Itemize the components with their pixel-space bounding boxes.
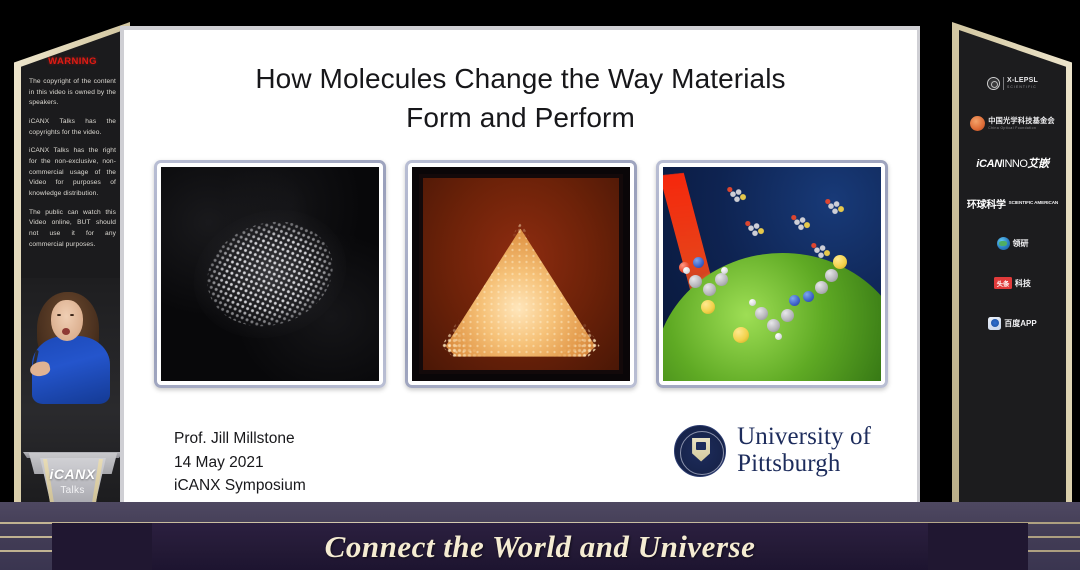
carbon-atom-3 xyxy=(715,273,728,286)
carbon-atom-7 xyxy=(815,281,828,294)
event-banner: Connect the World and Universe xyxy=(152,523,928,570)
slide-title-line-1: How Molecules Change the Way Materials xyxy=(255,63,785,94)
tem-micrograph xyxy=(161,167,379,381)
event-banner-text: Connect the World and Universe xyxy=(325,529,756,565)
speaker-name: Prof. Jill Millstone xyxy=(174,427,306,451)
sulfur-atom-1 xyxy=(701,300,715,314)
warning-paragraph-4: The public can watch this Video online, … xyxy=(29,208,116,251)
warning-panel: WARNING The copyright of the content in … xyxy=(21,30,124,520)
globe-icon xyxy=(997,237,1010,250)
warning-paragraph-2: iCANX Talks has the copyrights for the v… xyxy=(29,117,116,138)
warning-paragraph-1: The copyright of the content in this vid… xyxy=(29,77,116,109)
slide-title-line-2: Form and Perform xyxy=(406,102,635,133)
broadcast-stage: WARNING The copyright of the content in … xyxy=(0,0,1080,570)
carbon-atom-6 xyxy=(781,309,794,322)
divider xyxy=(1003,77,1004,90)
talk-date: 14 May 2021 xyxy=(174,451,306,475)
sponsor-name-en: X-LEPSL xyxy=(1007,77,1038,85)
nitrogen-atom xyxy=(693,257,704,268)
hydrogen-atom-1 xyxy=(683,267,690,274)
sponsor-name-inno: INNO xyxy=(1002,158,1028,170)
sponsor-name-cn: 环球科学 xyxy=(967,196,1006,211)
free-ligand-molecule-2 xyxy=(745,221,765,239)
free-ligand-molecule-5 xyxy=(811,243,831,261)
sponsor-name-cn: 艾嵌 xyxy=(1027,158,1048,170)
speaker-mouth xyxy=(62,328,70,335)
sulfur-atom-3 xyxy=(733,327,749,343)
slide-image-gold-nanoprism xyxy=(405,160,637,388)
sponsor-name-en: China Optical Foundation xyxy=(988,126,1055,130)
baidu-icon xyxy=(988,317,1001,330)
sponsor-logo-icaninno: iCANINNO艾嵌 xyxy=(959,148,1066,178)
slide-image-ligand-surface-illustration xyxy=(656,160,888,388)
sponsor-panel: X-LEPSL SCIENTIFIC 中国光学科技基金会 China Optic… xyxy=(959,30,1066,520)
slide-image-tem-nanoparticle-lattice xyxy=(154,160,386,388)
hydrogen-atom-3 xyxy=(749,299,756,306)
nanoprism-frame xyxy=(419,174,623,374)
sponsor-logo-x-lepsl: X-LEPSL SCIENTIFIC xyxy=(959,68,1066,98)
pitt-seal-icon xyxy=(674,425,726,477)
speaker-eye-right xyxy=(70,314,74,316)
pitt-shield-icon xyxy=(692,438,710,462)
sponsor-name-cn: 科技 xyxy=(1015,278,1031,289)
university-of-pittsburgh-logo: University of Pittsburgh xyxy=(674,424,871,477)
hydrogen-atom-2 xyxy=(721,267,728,274)
free-ligand-molecule-4 xyxy=(825,199,845,217)
sponsor-name-cn: 领研 xyxy=(1013,238,1029,249)
presentation-slide: How Molecules Change the Way Materials F… xyxy=(124,30,917,502)
sponsor-logo-lingyan: 领研 xyxy=(959,228,1066,258)
free-ligand-molecule-3 xyxy=(791,215,811,233)
nanoprism-edge-roughness xyxy=(442,223,600,357)
event-name: iCANX Symposium xyxy=(174,474,306,498)
warning-text-block: WARNING The copyright of the content in … xyxy=(21,56,124,258)
pitt-wordmark-line-2: Pittsburgh xyxy=(737,451,871,478)
carbon-atom-8 xyxy=(825,269,838,282)
sponsor-name-ican: iCAN xyxy=(976,158,1002,170)
nanoprism-render xyxy=(412,167,630,381)
carbon-atom-2 xyxy=(703,283,716,296)
podium-brand: iCANX xyxy=(21,466,124,482)
sponsor-logo-toutiao-tech: 头条 科技 xyxy=(959,268,1066,298)
sponsor-name-en: SCIENTIFIC AMERICAN xyxy=(1009,201,1058,206)
slide-title: How Molecules Change the Way Materials F… xyxy=(124,60,917,137)
sponsor-logo-baidu-app: 百度APP xyxy=(959,308,1066,338)
carbon-atom-1 xyxy=(689,275,702,288)
sponsor-name-cn: 百度APP xyxy=(1004,318,1036,329)
speaker-video-feed: iCANX Talks xyxy=(21,278,124,520)
molecule-scene xyxy=(663,167,881,381)
nitrogen-atom-3 xyxy=(803,291,814,302)
nitrogen-atom-2 xyxy=(789,295,800,306)
pitt-wordmark: University of Pittsburgh xyxy=(737,424,871,477)
sulfur-atom-2 xyxy=(833,255,847,269)
stage-wing-left xyxy=(52,523,152,570)
toutiao-badge: 头条 xyxy=(994,277,1012,289)
carbon-atom-4 xyxy=(755,307,768,320)
sponsor-name-cn: 中国光学科技基金会 xyxy=(988,116,1055,126)
warning-paragraph-3: iCANX Talks has the right for the non-ex… xyxy=(29,146,116,199)
flame-emblem-icon xyxy=(970,116,985,131)
carbon-atom-5 xyxy=(767,319,780,332)
podium-brand-sub: Talks xyxy=(21,485,124,496)
speaker-eye-left xyxy=(57,314,61,316)
slide-speaker-info: Prof. Jill Millstone 14 May 2021 iCANX S… xyxy=(174,427,306,498)
sponsor-logo-china-optical-foundation: 中国光学科技基金会 China Optical Foundation xyxy=(959,108,1066,138)
pitt-wordmark-line-1: University of xyxy=(737,424,871,451)
free-ligand-molecule-1 xyxy=(727,187,747,205)
hydrogen-atom-4 xyxy=(775,333,782,340)
sponsor-sub: SCIENTIFIC xyxy=(1007,85,1038,89)
stage-wing-right xyxy=(928,523,1028,570)
slide-image-row xyxy=(124,160,917,388)
university-seal-icon xyxy=(987,77,1000,90)
sponsor-logo-scientific-american: 环球科学 SCIENTIFIC AMERICAN xyxy=(959,188,1066,218)
